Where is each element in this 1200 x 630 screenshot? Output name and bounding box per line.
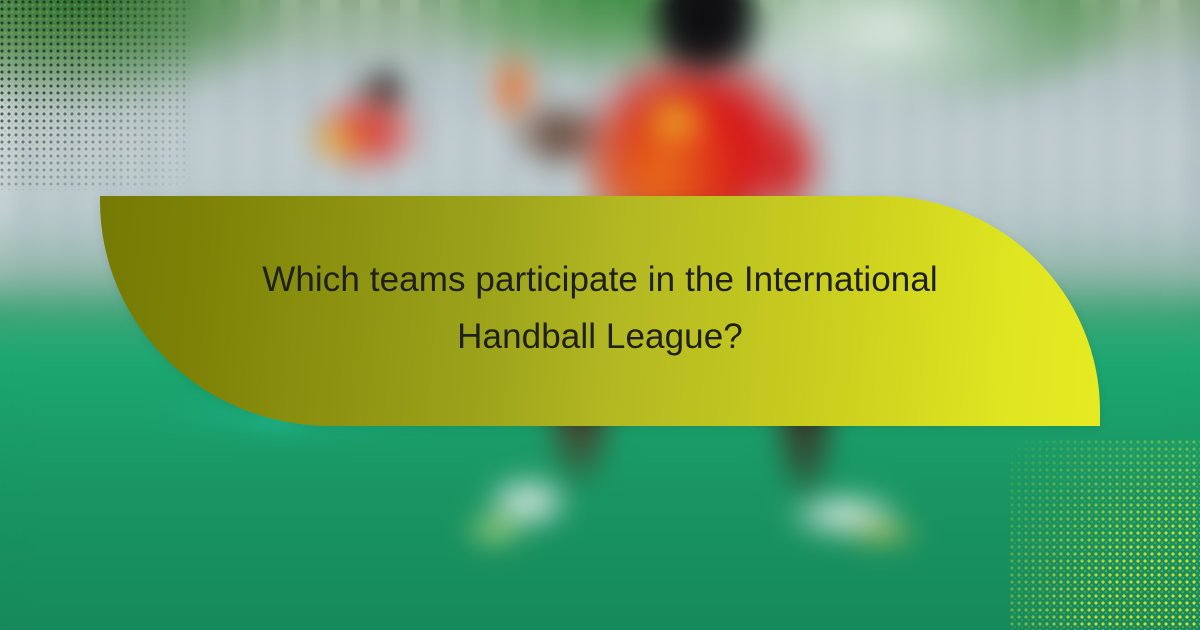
halftone-dots-bottom-right-icon xyxy=(1010,440,1200,630)
headline-banner: Which teams participate in the Internati… xyxy=(100,196,1100,426)
social-card: Which teams participate in the Internati… xyxy=(0,0,1200,630)
halftone-dots-top-left-icon xyxy=(0,0,190,190)
headline-text: Which teams participate in the Internati… xyxy=(200,252,1000,369)
